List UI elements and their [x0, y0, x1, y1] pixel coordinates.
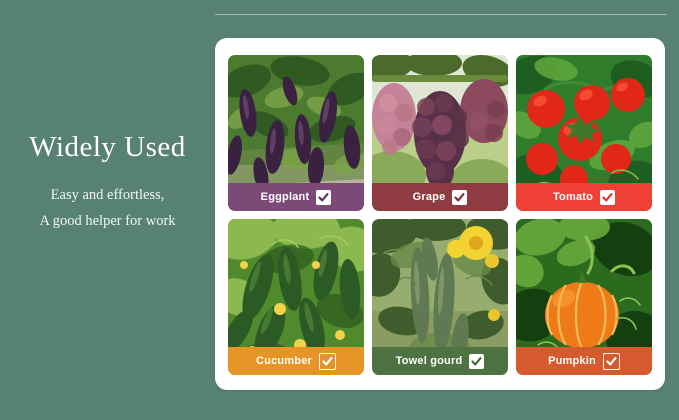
cucumber-label: Cucumber	[256, 355, 312, 367]
pumpkin-checkbox-icon[interactable]	[603, 353, 620, 370]
grape-label: Grape	[413, 191, 446, 203]
subtitle-line-2: A good helper for work	[0, 208, 215, 234]
card-pumpkin[interactable]: Pumpkin	[516, 219, 652, 375]
cards-panel: Eggplant	[215, 38, 665, 390]
towel-gourd-label: Towel gourd	[396, 355, 463, 367]
tomato-label: Tomato	[553, 191, 593, 203]
pumpkin-label-bar[interactable]: Pumpkin	[516, 347, 652, 375]
eggplant-label-bar[interactable]: Eggplant	[228, 183, 364, 211]
tomato-checkbox-icon[interactable]	[600, 190, 615, 205]
towel-gourd-checkbox-icon[interactable]	[469, 354, 484, 369]
cucumber-checkbox-icon[interactable]	[319, 353, 336, 370]
eggplant-checkbox-icon[interactable]	[316, 190, 331, 205]
card-tomato[interactable]: Tomato	[516, 55, 652, 211]
towel-gourd-label-bar[interactable]: Towel gourd	[372, 347, 508, 375]
pumpkin-label: Pumpkin	[548, 355, 596, 367]
grape-checkbox-icon[interactable]	[452, 190, 467, 205]
top-divider-rule	[215, 14, 667, 15]
subtitle-line-1: Easy and effortless,	[0, 182, 215, 208]
eggplant-label: Eggplant	[261, 191, 310, 203]
card-eggplant[interactable]: Eggplant	[228, 55, 364, 211]
card-grape[interactable]: Grape	[372, 55, 508, 211]
slide-root: Widely Used Easy and effortless, A good …	[0, 0, 679, 420]
grape-label-bar[interactable]: Grape	[372, 183, 508, 211]
card-towel-gourd[interactable]: Towel gourd	[372, 219, 508, 375]
tomato-label-bar[interactable]: Tomato	[516, 183, 652, 211]
page-title: Widely Used	[0, 130, 215, 164]
left-text-block: Widely Used Easy and effortless, A good …	[0, 130, 215, 234]
card-cucumber[interactable]: Cucumber	[228, 219, 364, 375]
cucumber-label-bar[interactable]: Cucumber	[228, 347, 364, 375]
cards-grid: Eggplant	[228, 55, 652, 375]
